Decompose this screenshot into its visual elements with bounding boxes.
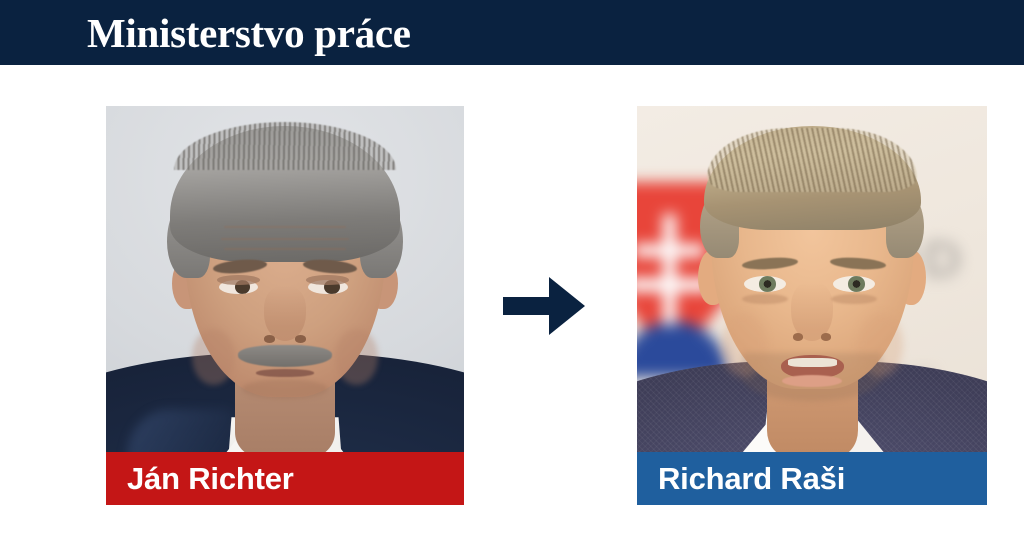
nostril-right [295, 335, 306, 342]
forehead-line [221, 238, 350, 240]
eyelid-left [217, 275, 260, 285]
infographic-root: Ministerstvo práce [0, 0, 1024, 537]
name-band-outgoing: Ján Richter [106, 452, 464, 505]
nostril-right [821, 333, 832, 340]
teeth [788, 358, 837, 367]
header-banner: Ministerstvo práce [0, 0, 1024, 65]
forehead-line [224, 226, 346, 228]
portrait-photo-incoming: OD SKE [637, 106, 987, 505]
portrait-photo-outgoing [106, 106, 464, 505]
name-band-incoming: Richard Raši [637, 452, 987, 505]
undereye-left [742, 294, 788, 304]
person-card-outgoing: Ján Richter [106, 106, 464, 505]
arrow-right-icon [503, 277, 585, 335]
forehead-line [224, 248, 346, 250]
person-card-incoming: OD SKE [637, 106, 987, 505]
iris-left [759, 276, 776, 291]
undereye-right [831, 294, 877, 304]
cheek-left [192, 329, 235, 385]
coat-of-arms-cross-upper [637, 244, 704, 258]
hair-texture [707, 128, 917, 192]
mouth [256, 369, 313, 376]
nostril-left [264, 335, 275, 342]
eye-left [744, 276, 786, 292]
page-title: Ministerstvo práce [87, 9, 411, 57]
cheek-right [335, 329, 378, 385]
nose-shape [791, 282, 833, 342]
nostril-left [793, 333, 804, 340]
eyelid-right [306, 275, 349, 285]
coat-of-arms-cross-vertical [663, 214, 676, 326]
iris-right [848, 276, 865, 291]
person-name-outgoing: Ján Richter [106, 452, 294, 505]
person-name-incoming: Richard Raši [637, 452, 845, 505]
eye-right [833, 276, 875, 292]
